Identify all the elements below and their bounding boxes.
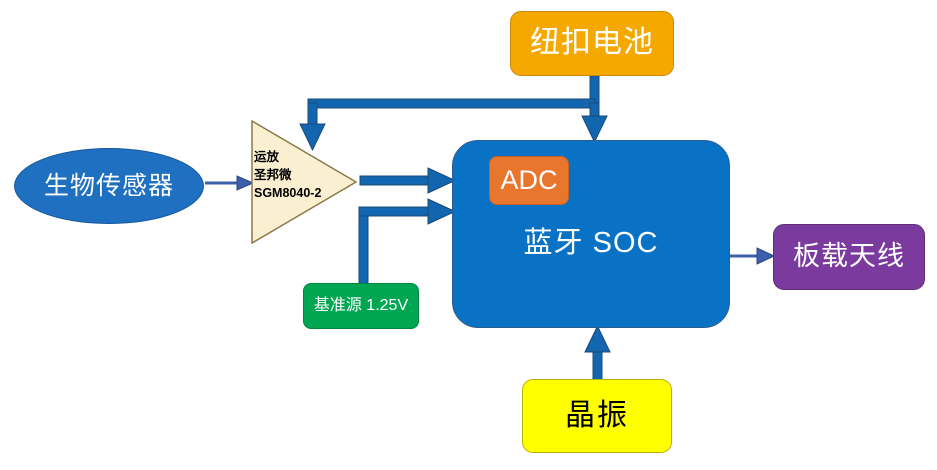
node-biosensor[interactable]: 生物传感器 [14,148,204,224]
node-crystal-oscillator[interactable]: 晶振 [522,379,672,453]
node-bluetooth-soc[interactable]: ADC 蓝牙 SOC [452,140,730,328]
connector-sensor-to-opamp [205,176,253,190]
adc-label: ADC [500,165,557,196]
block-diagram-canvas: 生物传感器 运放 圣邦微 SGM8040-2 纽扣电池 ADC 蓝牙 SOC 基… [0,0,937,470]
biosensor-label: 生物传感器 [44,172,174,201]
opamp-label-group: 运放 圣邦微 SGM8040-2 [254,148,321,202]
node-opamp[interactable]: 运放 圣邦微 SGM8040-2 [248,118,360,246]
opamp-line-2: 圣邦微 [254,166,321,184]
antenna-label: 板载天线 [793,241,905,272]
crystal-label: 晶振 [565,399,629,434]
soc-label: 蓝牙 SOC [453,227,729,260]
connector-opamp-to-soc [360,168,455,193]
connector-soc-to-antenna [730,248,774,264]
node-coin-cell-battery[interactable]: 纽扣电池 [510,11,674,76]
connector-vref-to-soc [359,199,455,285]
vref-label: 基准源 1.25V [314,297,408,315]
battery-label: 纽扣电池 [530,26,654,61]
opamp-line-1: 运放 [254,148,321,166]
connector-crystal-to-soc [585,326,610,382]
node-onboard-antenna[interactable]: 板载天线 [773,224,925,290]
node-adc-block[interactable]: ADC [489,156,569,205]
node-voltage-reference[interactable]: 基准源 1.25V [303,283,419,329]
opamp-line-3: SGM8040-2 [254,184,321,202]
